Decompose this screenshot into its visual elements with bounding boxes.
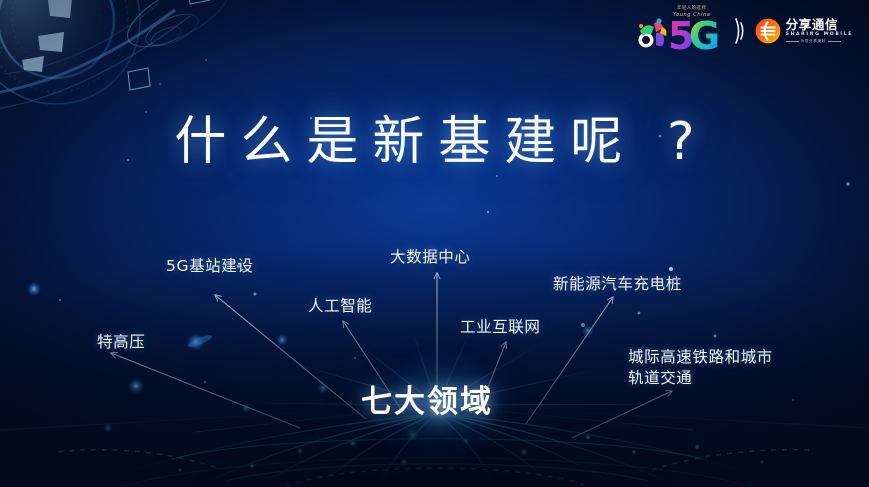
logo-sharing-mobile: 分享通信 SHARING MOBILE 为您分享美好 bbox=[755, 18, 853, 44]
logo-bar: 年轻人的选择 Young China bbox=[637, 9, 853, 53]
arrow-to-uhv bbox=[111, 353, 300, 428]
sharing-mobile-text: 分享通信 SHARING MOBILE 为您分享美好 bbox=[786, 19, 853, 44]
label-intercity-rail: 城际高速铁路和城市轨道交通 bbox=[628, 347, 788, 389]
slide-canvas: 年轻人的选择 Young China bbox=[0, 0, 869, 487]
label-big-data-center: 大数据中心 bbox=[390, 247, 471, 268]
logo-5g-tagline-cn: 年轻人的选择 bbox=[677, 6, 706, 11]
sharing-mobile-sub: 为您分享美好 bbox=[786, 40, 853, 44]
logo-divider-icon bbox=[732, 16, 746, 46]
arrow-to-rail bbox=[572, 391, 672, 438]
page-title: 什么是新基建呢 ? bbox=[0, 99, 869, 174]
label-5g-base-station: 5G基站建设 bbox=[166, 256, 253, 277]
logo-5g-tagline: 年轻人的选择 Young China bbox=[663, 6, 721, 20]
sharing-mobile-name-en: SHARING MOBILE bbox=[786, 33, 853, 38]
sharing-mobile-mark-icon bbox=[755, 18, 781, 44]
sharing-mobile-sub-text: 为您分享美好 bbox=[801, 40, 826, 44]
label-artificial-intelligence: 人工智能 bbox=[308, 296, 372, 317]
sharing-mobile-name-cn: 分享通信 bbox=[786, 19, 853, 32]
logo-5g-tagline-en: Young China bbox=[663, 12, 721, 20]
logo-5g: 年轻人的选择 Young China bbox=[637, 9, 723, 53]
center-label: 七大领域 bbox=[361, 376, 493, 421]
label-industrial-internet: 工业互联网 bbox=[460, 317, 541, 338]
label-ultra-high-voltage: 特高压 bbox=[97, 332, 145, 353]
label-ev-charging-pile: 新能源汽车充电桩 bbox=[553, 274, 682, 295]
